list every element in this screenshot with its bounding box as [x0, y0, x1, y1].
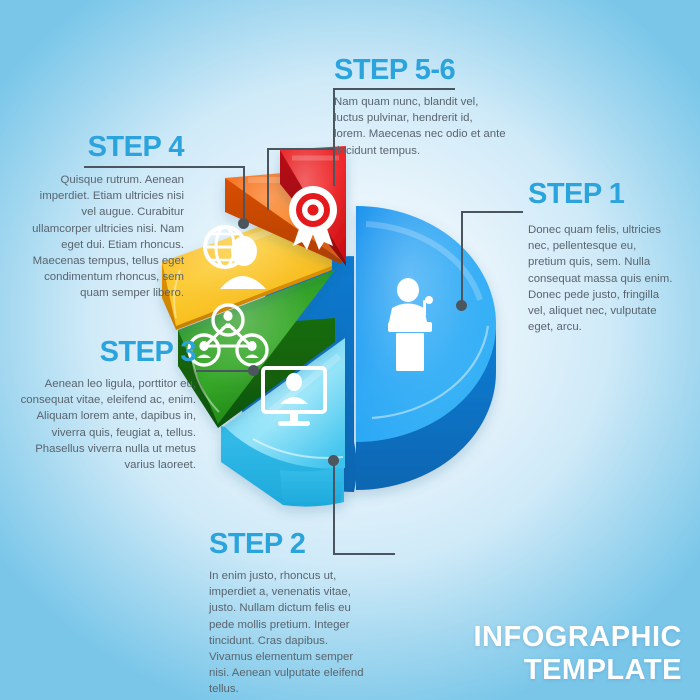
- connector-dot-step-1: [456, 300, 467, 311]
- connector-step-5-6-leg-left: [267, 148, 269, 210]
- step-2-body: In enim justo, rhoncus ut, imperdiet a, …: [209, 568, 372, 698]
- brand-footer: INFOGRAPHIC TEMPLATE: [474, 621, 683, 686]
- connector-step-5-6-horizontal: [333, 88, 455, 90]
- step-3-body: Aenean leo ligula, porttitor eu, consequ…: [16, 376, 196, 473]
- step-1-body: Donec quam felis, ultricies nec, pellent…: [528, 222, 674, 335]
- step-5-6-title: STEP 5-6: [334, 56, 455, 85]
- step-1-title: STEP 1: [528, 180, 624, 209]
- step-2-title: STEP 2: [209, 530, 305, 559]
- connector-dot-step-2: [328, 455, 339, 466]
- connector-step-4-horizontal: [84, 166, 244, 168]
- step-4-body: Quisque rutrum. Aenean imperdiet. Etiam …: [24, 172, 184, 302]
- connector-dot-step-4: [238, 218, 249, 229]
- connector-step-2-vertical: [333, 460, 335, 554]
- connector-step-4-vertical: [243, 166, 245, 223]
- connector-step-2-horizontal: [333, 553, 395, 555]
- step-5-6-body: Nam quam nunc, blandit vel, luctus pulvi…: [334, 94, 506, 159]
- connector-dot-step-3: [248, 365, 259, 376]
- connector-step-3-horizontal: [196, 370, 254, 372]
- infographic-canvas: STEP 1 Donec quam felis, ultricies nec, …: [0, 0, 700, 700]
- brand-line-2: TEMPLATE: [474, 654, 683, 686]
- connector-step-5-6-bracket: [267, 148, 335, 150]
- step-4-title: STEP 4: [0, 133, 184, 162]
- connector-step-1-horizontal: [461, 211, 523, 213]
- brand-line-1: INFOGRAPHIC: [474, 621, 683, 653]
- connector-step-1-vertical: [461, 211, 463, 307]
- step-3-title: STEP 3: [0, 338, 196, 367]
